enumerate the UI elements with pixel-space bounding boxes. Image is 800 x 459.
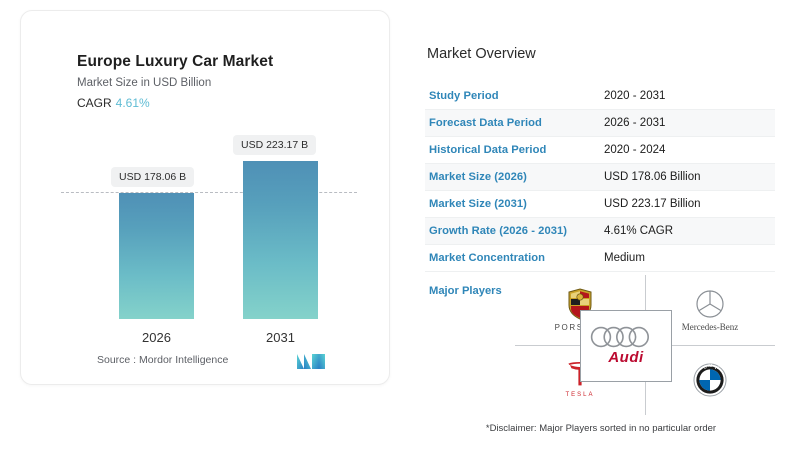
row-value: 2020 - 2031: [604, 90, 665, 102]
page-title: Europe Luxury Car Market: [77, 53, 273, 71]
table-row: Forecast Data Period 2026 - 2031: [425, 110, 775, 137]
table-row: Market Size (2031) USD 223.17 Billion: [425, 191, 775, 218]
chart-subtitle: Market Size in USD Billion: [77, 77, 211, 89]
player-audi: Audi: [580, 310, 672, 382]
row-value: Medium: [604, 252, 645, 264]
mordor-intelligence-logo-icon: [295, 351, 327, 371]
svg-text:W: W: [714, 365, 719, 370]
bar-2031: [243, 161, 318, 319]
player-name: TESLA: [565, 392, 594, 398]
bmw-logo-icon: B M W: [692, 362, 728, 398]
chart-card: Europe Luxury Car Market Market Size in …: [20, 10, 390, 385]
table-row: Study Period 2020 - 2031: [425, 83, 775, 110]
market-overview-table: Study Period 2020 - 2031 Forecast Data P…: [425, 83, 775, 272]
row-value: 2026 - 2031: [604, 117, 665, 129]
row-key: Market Size (2026): [429, 171, 604, 183]
player-name: Mercedes-Benz: [682, 322, 738, 332]
major-players-label: Major Players: [429, 285, 502, 297]
bar-2026: [119, 193, 194, 319]
table-row: Historical Data Period 2020 - 2024: [425, 137, 775, 164]
row-key: Market Size (2031): [429, 198, 604, 210]
market-overview-panel: Market Overview Study Period 2020 - 2031…: [415, 30, 775, 450]
row-value: 4.61% CAGR: [604, 225, 673, 237]
cagr-value: 4.61%: [116, 96, 150, 110]
table-row: Market Size (2026) USD 178.06 Billion: [425, 164, 775, 191]
disclaimer-text: *Disclaimer: Major Players sorted in no …: [427, 423, 775, 434]
row-key: Market Concentration: [429, 252, 604, 264]
svg-text:M: M: [708, 363, 712, 368]
row-value: USD 223.17 Billion: [604, 198, 701, 210]
table-row: Growth Rate (2026 - 2031) 4.61% CAGR: [425, 218, 775, 245]
major-players-grid: PORSCHE Mercedes-Benz TESLA: [515, 275, 775, 415]
mercedes-benz-logo-icon: [695, 289, 725, 319]
cagr-row: CAGR4.61%: [77, 96, 150, 110]
row-value: USD 178.06 Billion: [604, 171, 701, 183]
row-key: Forecast Data Period: [429, 117, 604, 129]
x-axis-tick-2026: 2026: [119, 330, 194, 345]
table-row: Market Concentration Medium: [425, 245, 775, 272]
market-report-page: Europe Luxury Car Market Market Size in …: [0, 0, 800, 459]
row-key: Historical Data Period: [429, 144, 604, 156]
row-value: 2020 - 2024: [604, 144, 665, 156]
player-name: Audi: [608, 349, 643, 366]
row-key: Growth Rate (2026 - 2031): [429, 225, 604, 237]
x-axis-tick-2031: 2031: [243, 330, 318, 345]
bar-chart: USD 178.06 B USD 223.17 B 2026 2031: [61, 121, 361, 351]
cagr-label: CAGR: [77, 96, 112, 110]
audi-logo-icon: [589, 326, 663, 348]
svg-text:B: B: [704, 364, 707, 369]
row-key: Study Period: [429, 90, 604, 102]
bar-value-label-2031: USD 223.17 B: [233, 135, 316, 155]
market-overview-heading: Market Overview: [427, 46, 536, 62]
source-text: Source : Mordor Intelligence: [97, 354, 228, 366]
bar-value-label-2026: USD 178.06 B: [111, 167, 194, 187]
